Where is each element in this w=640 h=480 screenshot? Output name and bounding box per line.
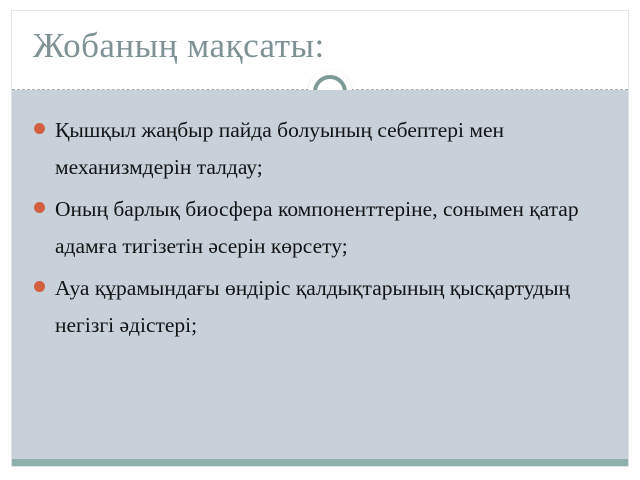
presentation-slide: Жобаның мақсаты: Қышқыл жаңбыр пайда бол… <box>11 10 629 467</box>
bullet-dot-icon <box>34 202 45 213</box>
list-item-text: Қышқыл жаңбыр пайда болуының себептері м… <box>55 118 504 179</box>
footer-bar-icon <box>12 459 628 467</box>
page-title: Жобаның мақсаты: <box>33 26 325 66</box>
list-item: Қышқыл жаңбыр пайда болуының себептері м… <box>30 112 602 186</box>
slide-body-panel: Қышқыл жаңбыр пайда болуының себептері м… <box>12 90 628 466</box>
list-item-text: Ауа құрамындағы өндіріс қалдықтарының қы… <box>55 276 570 337</box>
objectives-list: Қышқыл жаңбыр пайда болуының себептері м… <box>30 112 602 349</box>
list-item: Ауа құрамындағы өндіріс қалдықтарының қы… <box>30 270 602 344</box>
list-item-text: Оның барлық биосфера компоненттеріне, со… <box>55 197 579 258</box>
list-item: Оның барлық биосфера компоненттеріне, со… <box>30 191 602 265</box>
bullet-dot-icon <box>34 123 45 134</box>
bullet-dot-icon <box>34 281 45 292</box>
